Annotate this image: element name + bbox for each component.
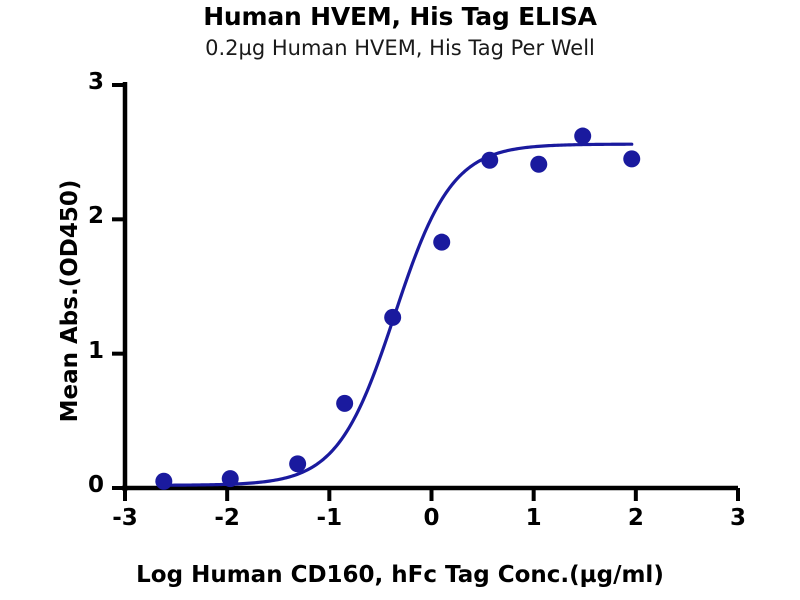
x-tick-label-0: -3: [95, 505, 155, 531]
x-tick-label-4: 1: [504, 505, 564, 531]
data-point-4: [384, 309, 401, 326]
data-point-6: [481, 152, 498, 169]
data-point-0: [155, 473, 172, 490]
data-point-3: [336, 395, 353, 412]
axes-group: [122, 82, 738, 491]
x-tick-label-2: -1: [299, 505, 359, 531]
axis-ticks: [112, 85, 738, 501]
data-point-1: [222, 470, 239, 487]
data-point-7: [530, 156, 547, 173]
data-point-2: [289, 455, 306, 472]
x-axis-label: Log Human CD160, hFc Tag Conc.(µg/ml): [0, 562, 800, 588]
x-tick-label-6: 3: [708, 505, 768, 531]
data-point-5: [433, 234, 450, 251]
x-tick-label-5: 2: [606, 505, 666, 531]
data-point-8: [574, 128, 591, 145]
x-tick-label-3: 0: [402, 505, 462, 531]
y-axis-label: Mean Abs.(OD450): [57, 91, 83, 511]
x-tick-label-1: -2: [197, 505, 257, 531]
data-point-9: [623, 150, 640, 167]
chart-figure: Human HVEM, His Tag ELISA 0.2µg Human HV…: [0, 0, 800, 600]
